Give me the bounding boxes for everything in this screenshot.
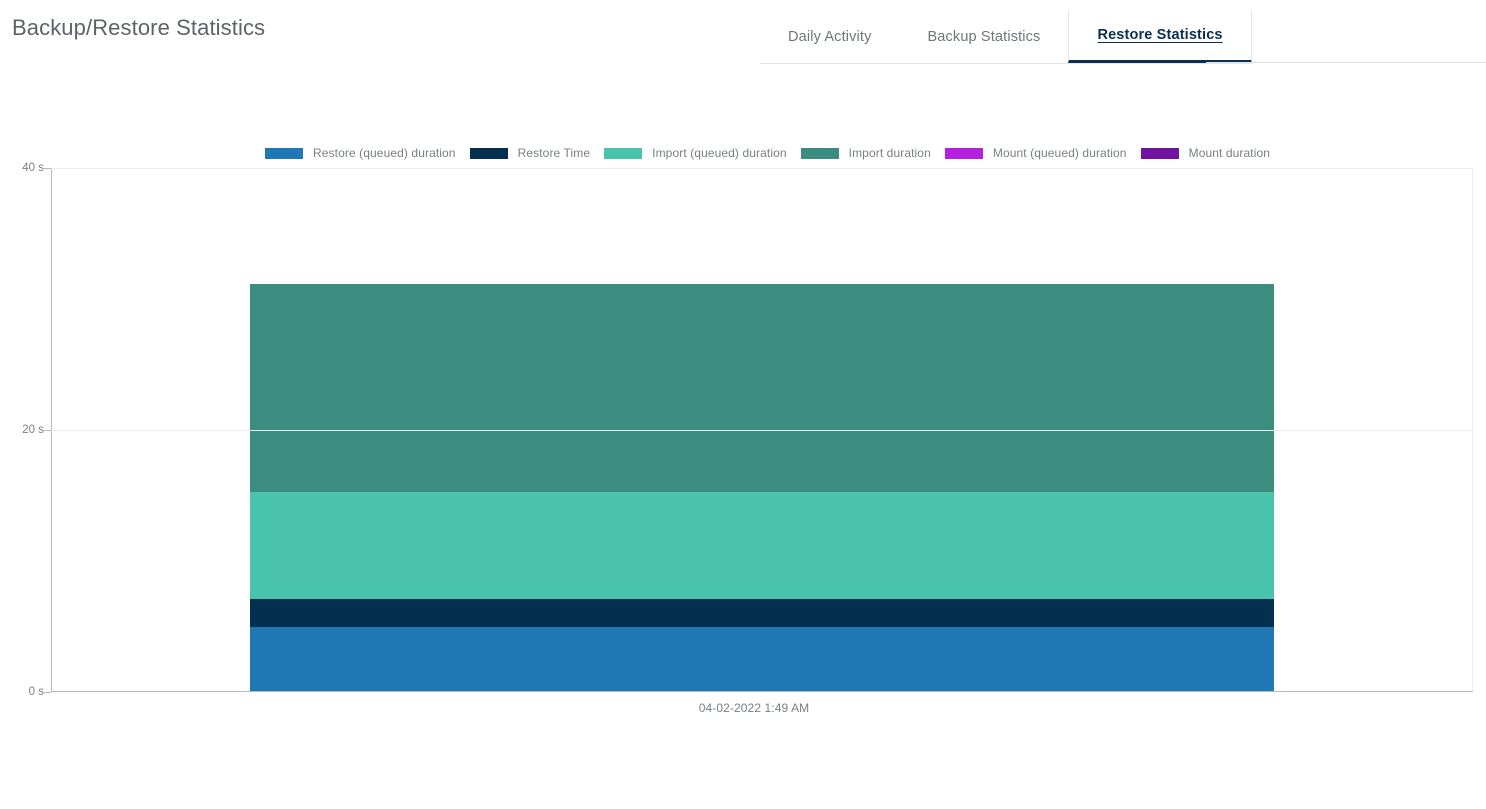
y-axis-tick-label: 40 s xyxy=(22,162,44,174)
y-axis-tick-label: 20 s xyxy=(22,424,44,436)
bar-segment[interactable] xyxy=(250,627,1274,691)
legend-swatch-icon xyxy=(1141,148,1179,159)
legend-item[interactable]: Restore (queued) duration xyxy=(265,146,456,160)
legend-swatch-icon xyxy=(604,148,642,159)
x-axis-tick-label-text: 04-02-2022 1:49 AM xyxy=(699,701,810,715)
legend-swatch-icon xyxy=(470,148,508,159)
legend-item[interactable]: Restore Time xyxy=(470,146,591,160)
bar-segment[interactable] xyxy=(250,284,1274,492)
gridline xyxy=(51,168,1473,169)
y-axis-tick-mark xyxy=(44,692,51,693)
legend-item[interactable]: Import (queued) duration xyxy=(604,146,786,160)
legend-item[interactable]: Mount (queued) duration xyxy=(945,146,1127,160)
legend-item[interactable]: Mount duration xyxy=(1141,146,1270,160)
y-axis-tick-mark xyxy=(44,430,51,431)
y-axis: 0 s20 s40 s xyxy=(0,168,44,692)
legend-label: Import (queued) duration xyxy=(652,146,786,160)
legend-label: Mount duration xyxy=(1189,146,1270,160)
legend-label: Restore (queued) duration xyxy=(313,146,456,160)
legend-swatch-icon xyxy=(265,148,303,159)
stacked-bar[interactable] xyxy=(250,284,1274,691)
x-axis-line xyxy=(51,691,1473,692)
y-axis-tick-label: 0 s xyxy=(29,686,44,698)
plot-area xyxy=(51,168,1473,692)
legend-swatch-icon xyxy=(801,148,839,159)
legend-item[interactable]: Import duration xyxy=(801,146,931,160)
legend-label: Restore Time xyxy=(518,146,591,160)
restore-statistics-chart: Restore (queued) durationRestore TimeImp… xyxy=(0,0,1486,809)
y-axis-tick-mark xyxy=(44,168,51,169)
bar-segment[interactable] xyxy=(250,492,1274,599)
legend-label: Import duration xyxy=(849,146,931,160)
bar-segment[interactable] xyxy=(250,599,1274,627)
legend-swatch-icon xyxy=(945,148,983,159)
chart-legend: Restore (queued) durationRestore TimeImp… xyxy=(265,145,1284,161)
x-axis-tick-label: 04-02-2022 1:49 AM xyxy=(0,701,1486,715)
gridline xyxy=(51,430,1473,431)
legend-label: Mount (queued) duration xyxy=(993,146,1127,160)
